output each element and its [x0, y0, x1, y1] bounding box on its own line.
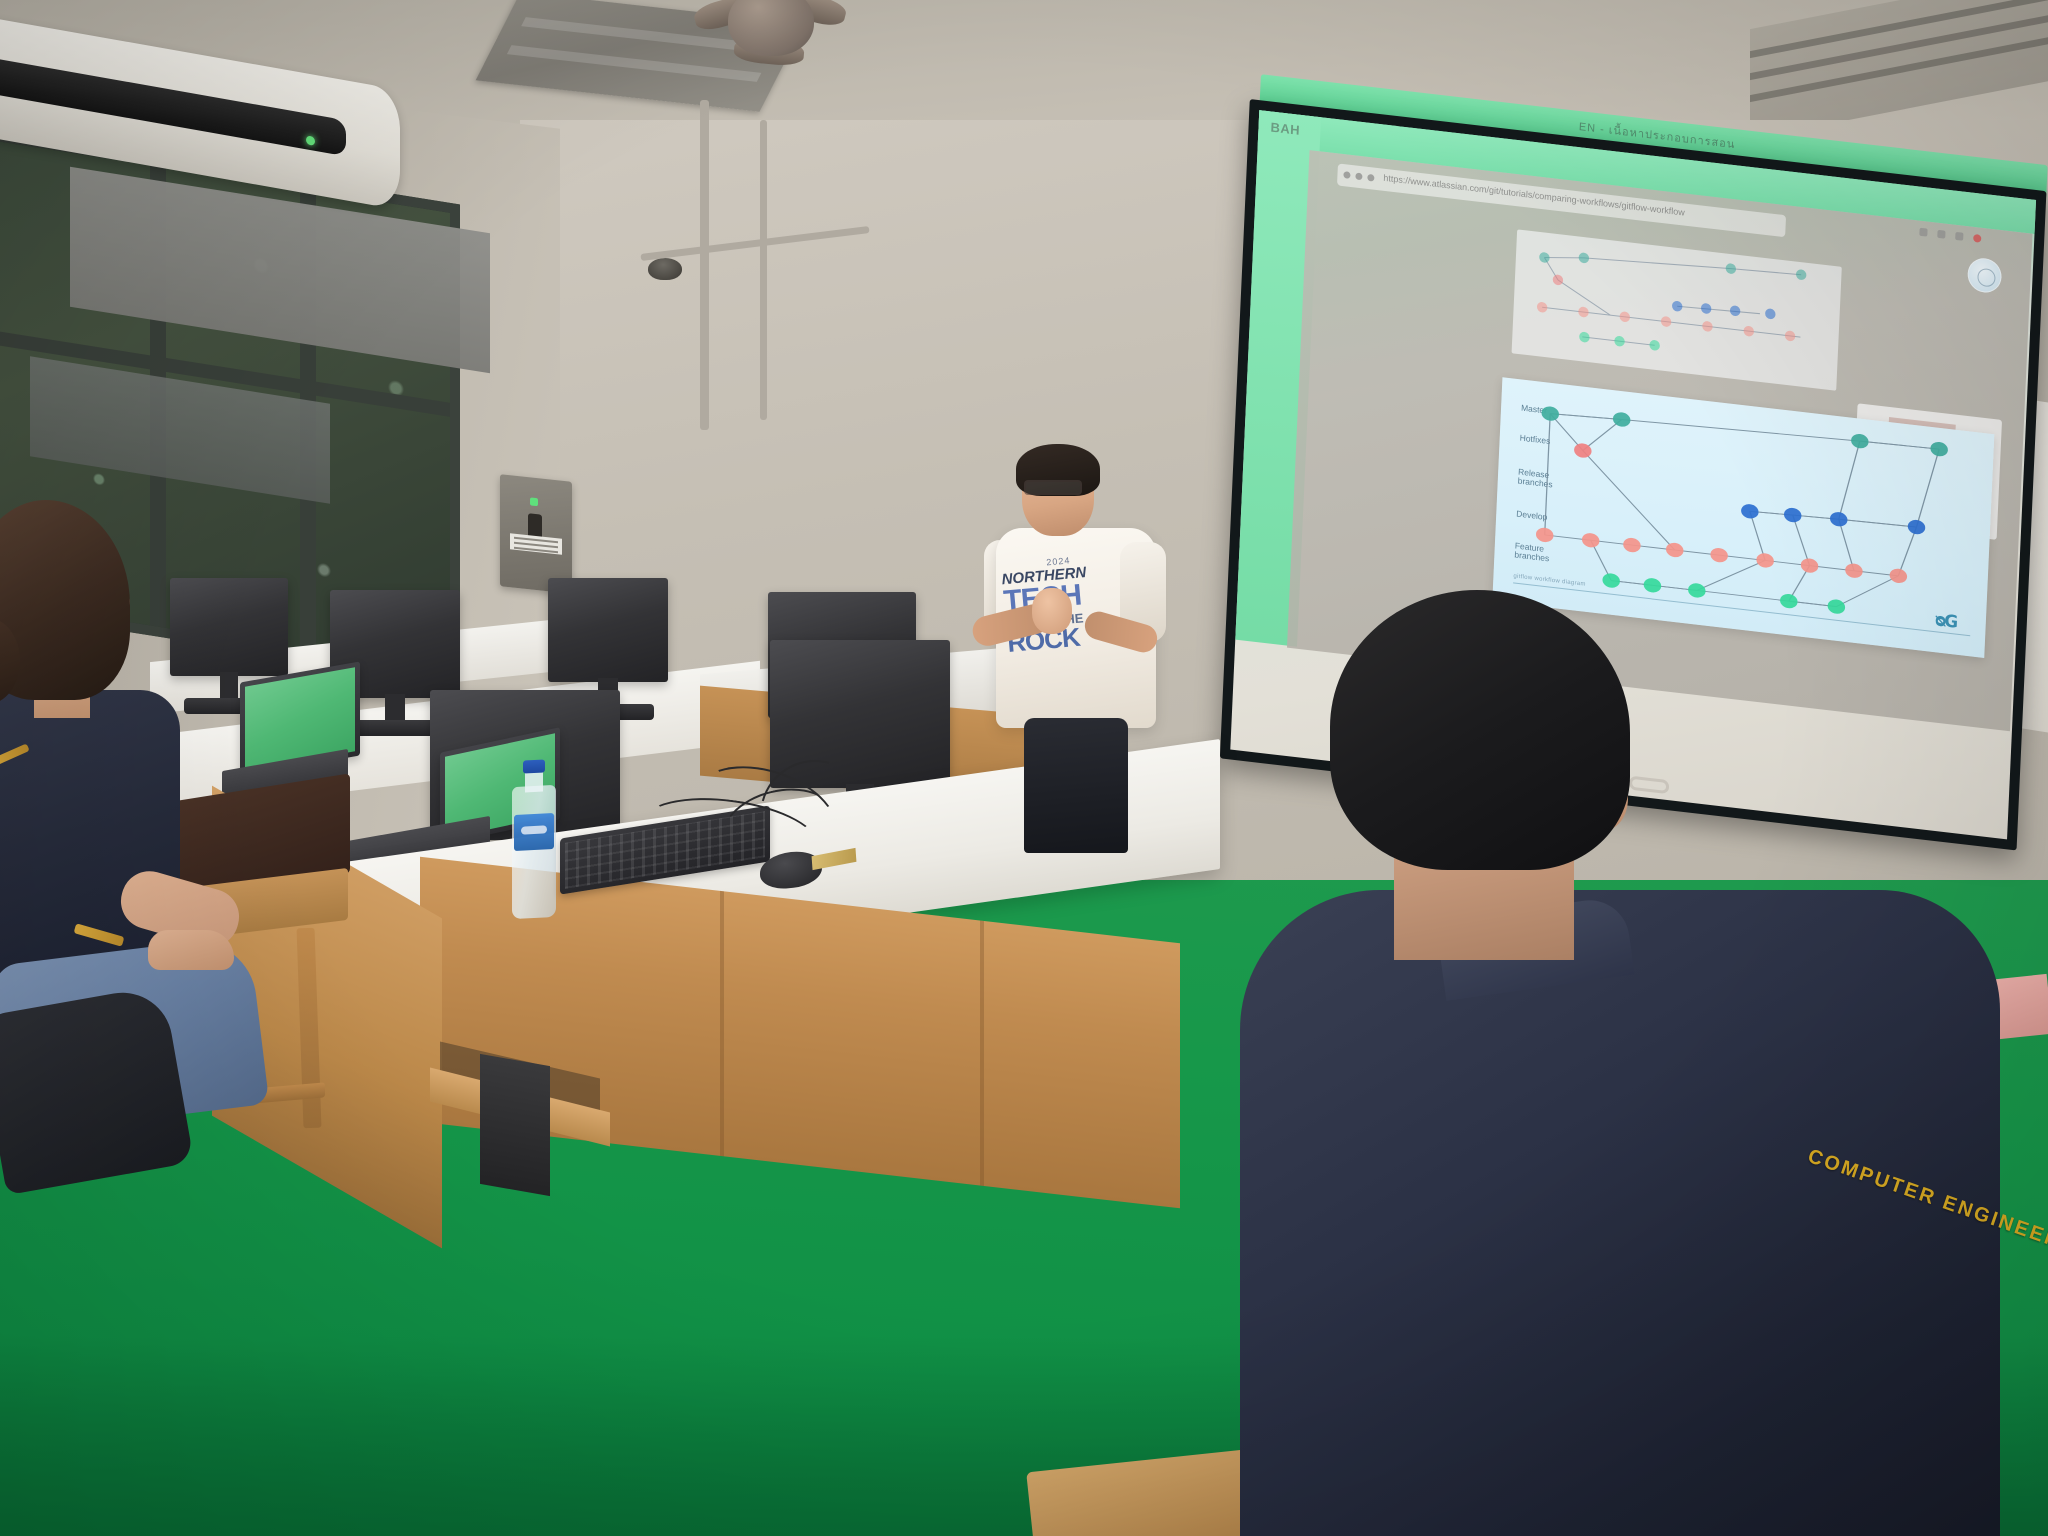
pc-tower	[480, 1054, 550, 1196]
presenter-trousers	[1024, 718, 1128, 853]
browser-toolbar-icons[interactable]	[1919, 228, 1981, 243]
presenter-standing: 2024 NORTHERN TECH THE ROCK	[980, 450, 1170, 850]
git-commit-node	[1623, 537, 1641, 553]
git-commit-node	[1741, 503, 1759, 519]
gitflow-diagram-thumbnail[interactable]	[1511, 229, 1842, 391]
download-icon[interactable]	[1955, 232, 1963, 241]
git-commit-node	[1582, 532, 1600, 548]
git-commit-node	[1801, 558, 1819, 574]
git-commit-node	[1666, 542, 1684, 558]
git-commit-node	[1930, 441, 1948, 457]
bookmark-icon[interactable]	[1937, 230, 1945, 239]
git-commit-node	[1710, 547, 1728, 563]
record-icon[interactable]	[1973, 234, 1981, 243]
backpack[interactable]	[0, 985, 194, 1195]
electrical-control-panel[interactable]	[500, 474, 572, 594]
git-commit-node	[1541, 406, 1559, 422]
eyeglasses-icon	[1024, 480, 1082, 495]
panel-led-icon	[530, 497, 538, 506]
presenter-hands	[1032, 588, 1072, 634]
classroom-photo: EN - เนื้อหาประกอบการสอน BAH https://www…	[0, 0, 2048, 1536]
monitor-3	[548, 578, 668, 682]
student-right-torso	[1240, 890, 2000, 1536]
git-commit-node	[1908, 519, 1926, 535]
panel-label	[510, 533, 562, 554]
wall-conduit	[760, 120, 767, 420]
git-commit-node	[1830, 511, 1848, 527]
git-commit-node	[1890, 568, 1908, 584]
git-commit-node	[1602, 573, 1620, 589]
git-commit-node	[1756, 553, 1774, 569]
student-seated-foreground-right: COMPUTER ENGINEERING	[1310, 590, 2048, 1536]
ceiling-fan-icon	[700, 0, 840, 78]
git-commit-node	[1851, 433, 1869, 449]
student-right-hair	[1330, 590, 1630, 870]
git-commit-node	[1536, 527, 1554, 543]
student-left-hair	[0, 500, 130, 700]
dome-camera-icon	[648, 258, 682, 280]
git-commit-node	[1784, 507, 1802, 523]
water-bottle[interactable]	[512, 759, 556, 919]
student-left-foot	[148, 930, 234, 970]
user-avatar[interactable]	[1967, 256, 2002, 294]
extensions-icon[interactable]	[1919, 228, 1927, 237]
wall-conduit	[700, 100, 709, 430]
git-commit-node	[1845, 563, 1863, 579]
browser-window-dots-icon	[1343, 171, 1374, 182]
